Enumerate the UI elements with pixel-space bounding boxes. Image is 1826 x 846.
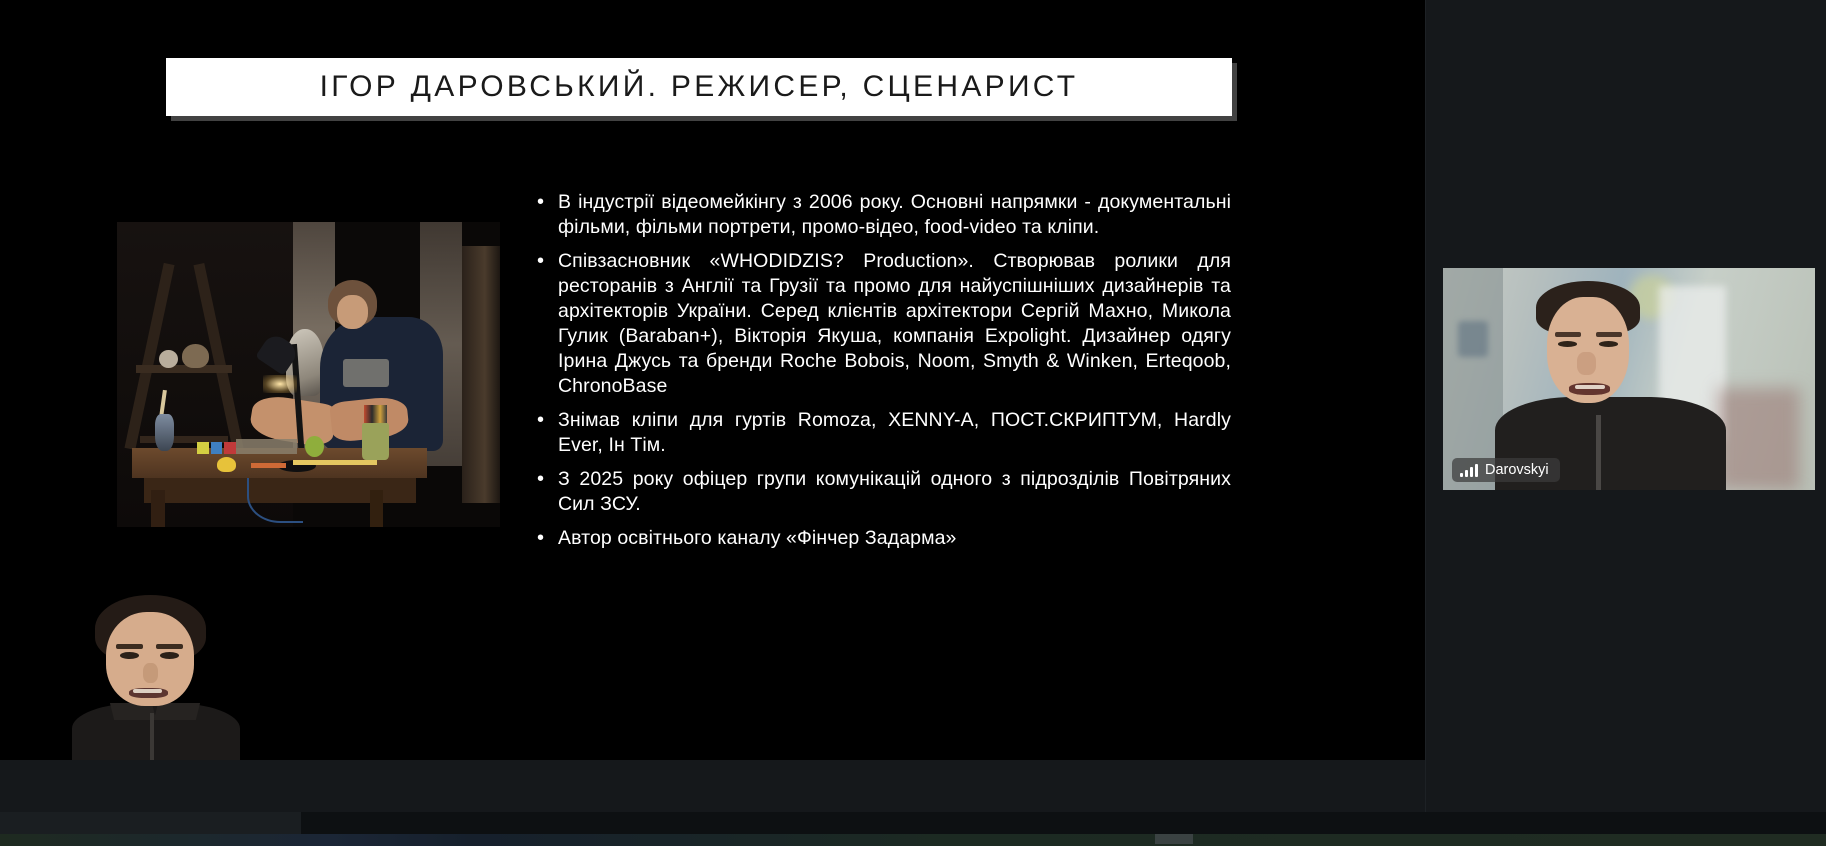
list-item: • З 2025 року офіцер групи комунікацій о… bbox=[531, 467, 1231, 517]
bullet-marker-icon: • bbox=[531, 526, 558, 551]
participant-eye-right bbox=[1599, 341, 1618, 347]
taskbar-item[interactable] bbox=[1155, 834, 1193, 844]
photo-rubber-duck bbox=[217, 457, 236, 472]
bullet-marker-icon: • bbox=[531, 467, 558, 492]
participant-brow-right bbox=[1596, 332, 1622, 336]
photo-shelf-upper bbox=[136, 365, 232, 373]
list-item: • Автор освітнього каналу «Фінчер Задарм… bbox=[531, 526, 1231, 551]
bullet-text: В індустрії відеомейкінгу з 2006 року. О… bbox=[558, 190, 1231, 240]
photo-teddy-bear bbox=[182, 344, 209, 368]
slide-title-box: ІГОР ДАРОВСЬКИЙ. РЕЖИСЕР, СЦЕНАРИСТ bbox=[166, 58, 1232, 116]
self-view-video[interactable] bbox=[60, 592, 252, 760]
photo-pencil-orange bbox=[251, 463, 285, 468]
participant-brow-left bbox=[1555, 332, 1581, 336]
participant-video-tile[interactable]: Darovskyi bbox=[1443, 268, 1815, 490]
bullet-text: Автор освітнього каналу «Фінчер Задарма» bbox=[558, 526, 1231, 551]
participant-name: Darovskyi bbox=[1485, 458, 1549, 482]
photo-table-leg-left bbox=[151, 490, 164, 527]
shared-screen-stage[interactable]: ІГОР ДАРОВСЬКИЙ. РЕЖИСЕР, СЦЕНАРИСТ bbox=[0, 0, 1425, 760]
list-item: • Співзасновник «WHODIDZIS? Production».… bbox=[531, 249, 1231, 399]
bullet-marker-icon: • bbox=[531, 190, 558, 215]
photo-shirt-print bbox=[343, 359, 389, 386]
self-view-nose bbox=[143, 663, 158, 683]
photo-table-leg-right bbox=[370, 490, 383, 527]
photo-paint-red bbox=[224, 442, 235, 454]
os-taskbar[interactable] bbox=[0, 834, 1826, 846]
self-view-teeth bbox=[133, 689, 162, 693]
bullet-text: З 2025 року офіцер групи комунікацій одн… bbox=[558, 467, 1231, 517]
list-item: • В індустрії відеомейкінгу з 2006 року.… bbox=[531, 190, 1231, 240]
self-view-brow-right bbox=[156, 644, 183, 649]
bullet-text: Знімав кліпи для гуртів Romoza, XENNY-A,… bbox=[558, 408, 1231, 458]
self-view-zipper bbox=[150, 713, 154, 760]
bullet-marker-icon: • bbox=[531, 249, 558, 274]
participant-zipper bbox=[1596, 415, 1602, 490]
slide-bullet-list: • В індустрії відеомейкінгу з 2006 року.… bbox=[531, 190, 1231, 560]
photo-vase bbox=[155, 414, 174, 451]
photo-paper-sheet bbox=[236, 439, 297, 454]
participant-teeth bbox=[1575, 385, 1605, 389]
photo-paint-yellow bbox=[197, 442, 208, 454]
participant-name-badge: Darovskyi bbox=[1452, 458, 1560, 482]
participant-warm-object bbox=[1718, 388, 1800, 490]
participant-eye-left bbox=[1558, 341, 1577, 347]
page-title: ІГОР ДАРОВСЬКИЙ. РЕЖИСЕР, СЦЕНАРИСТ bbox=[320, 70, 1079, 104]
photo-green-apple bbox=[305, 436, 324, 457]
self-view-brow-left bbox=[116, 644, 143, 649]
list-item: • Знімав кліпи для гуртів Romoza, XENNY-… bbox=[531, 408, 1231, 458]
photo-pencil-cup bbox=[362, 423, 389, 460]
participant-wall-frame bbox=[1458, 321, 1488, 357]
photo-person-face bbox=[337, 295, 368, 329]
photo-easel bbox=[462, 246, 500, 502]
slide-photo bbox=[117, 222, 500, 527]
participant-wall-shadow bbox=[1443, 268, 1503, 490]
bullet-marker-icon: • bbox=[531, 408, 558, 433]
lower-chrome-strip bbox=[0, 760, 1425, 812]
bullet-text: Співзасновник «WHODIDZIS? Production». С… bbox=[558, 249, 1231, 399]
participant-nose bbox=[1577, 352, 1596, 374]
video-call-window: ІГОР ДАРОВСЬКИЙ. РЕЖИСЕР, СЦЕНАРИСТ bbox=[0, 0, 1826, 846]
photo-ruler bbox=[293, 460, 377, 465]
photo-paint-blue bbox=[211, 442, 222, 454]
photo-lamp-glow bbox=[263, 375, 297, 393]
bottom-chrome-segment bbox=[0, 812, 301, 834]
signal-bars-icon bbox=[1460, 464, 1478, 477]
